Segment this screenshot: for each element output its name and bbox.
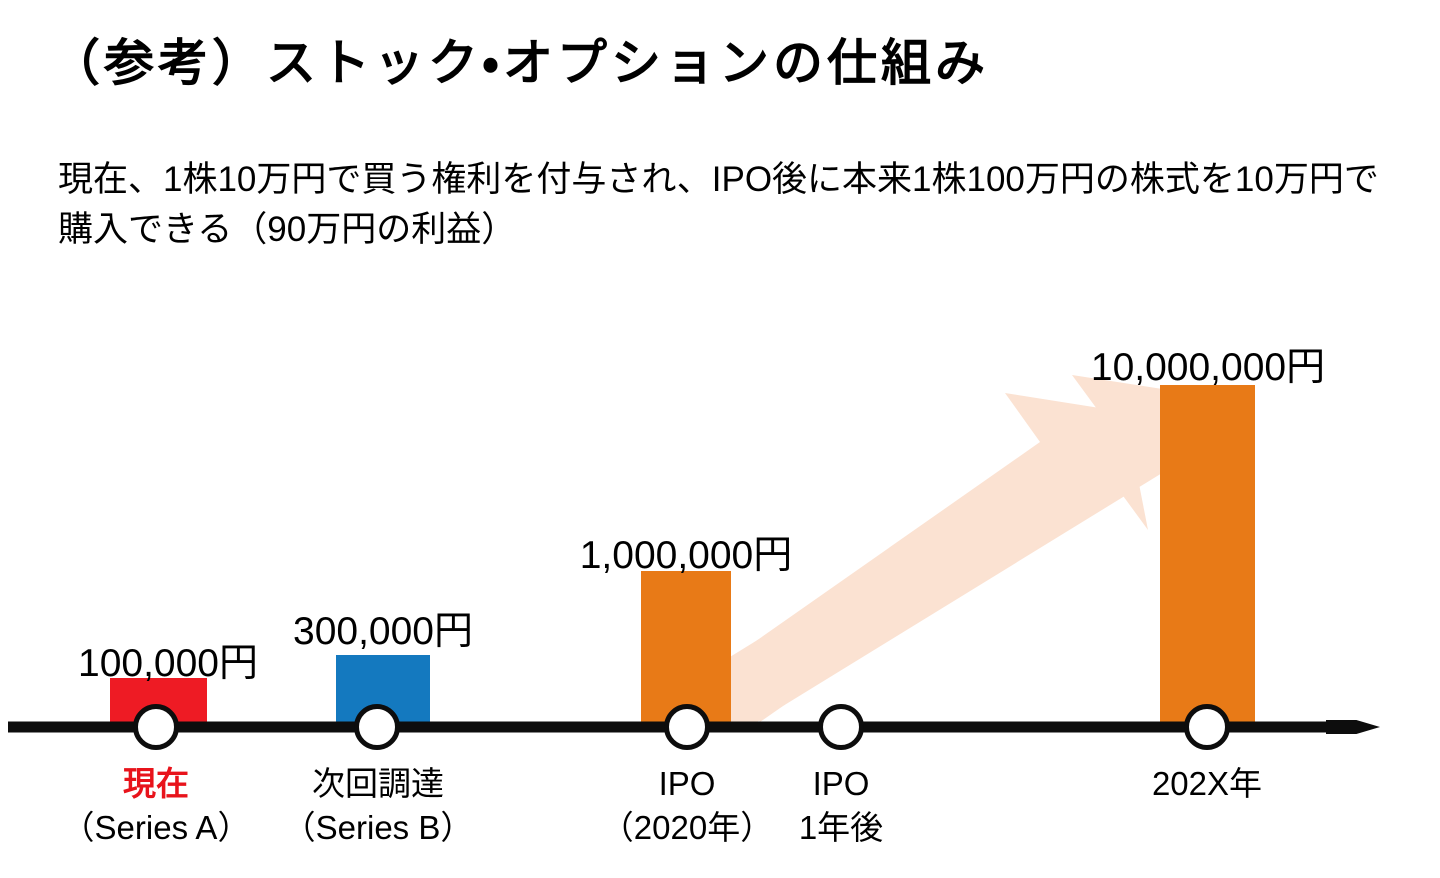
node-circle-year-202x: [1184, 704, 1230, 750]
tick-label-top: IPO: [661, 762, 1021, 806]
node-circle-ipo-plus-1y: [818, 704, 864, 750]
bar-value-series-b: 300,000円: [203, 600, 563, 656]
tick-label-ipo-plus-1y: IPO 1年後: [661, 762, 1021, 849]
bar-value-year-202x: 10,000,000円: [1028, 336, 1388, 392]
tick-label-top: 202X年: [1027, 762, 1387, 806]
node-circle-series-b: [354, 704, 400, 750]
node-circle-series-a: [133, 704, 179, 750]
tick-label-year-202x: 202X年: [1027, 762, 1387, 806]
bar-rect: [641, 571, 731, 726]
bar-rect: [1160, 385, 1255, 726]
tick-label-series-b: 次回調達 （Series B）: [198, 762, 558, 849]
node-circle-ipo-2020: [664, 704, 710, 750]
timeline-bar-chart: 100,000円 300,000円 1,000,000円 10,000,000円…: [0, 0, 1440, 878]
tick-label-bottom: （Series B）: [198, 806, 558, 850]
bar-value-ipo-2020: 1,000,000円: [506, 524, 866, 580]
slide-canvas: （参考）ストック・オプションの仕組み 現在、1株10万円で買う権利を付与され、I…: [0, 0, 1440, 878]
bar-ipo-2020: [641, 571, 731, 726]
tick-label-top: 次回調達: [198, 762, 558, 806]
tick-label-bottom: 1年後: [661, 806, 1021, 850]
bar-year-202x: [1160, 385, 1255, 726]
